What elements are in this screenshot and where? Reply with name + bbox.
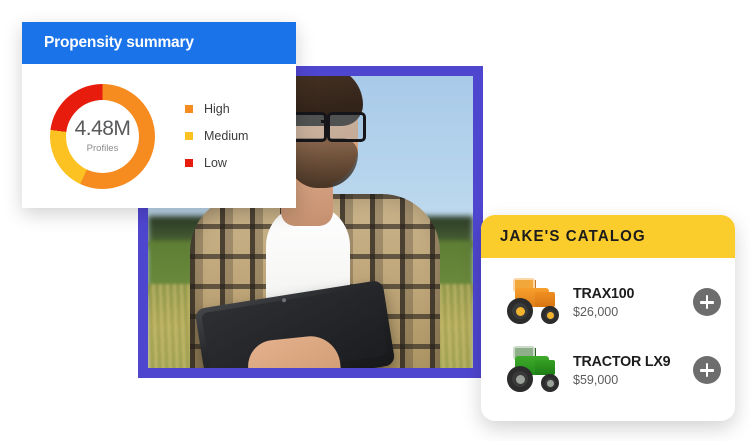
donut-center: 4.48M Profiles [66, 100, 139, 173]
add-item-button[interactable] [693, 356, 721, 384]
legend-label-low: Low [204, 156, 227, 170]
add-item-button[interactable] [693, 288, 721, 316]
green-tractor-icon [493, 344, 565, 396]
eyeglasses-icon [288, 112, 366, 136]
propensity-card-body: 4.48M Profiles High Medium Low [22, 64, 296, 208]
page-title: Propensity summary [44, 34, 194, 52]
catalog-item-list: TRAX100 $26,000 TRACTOR LX9 $59,000 [481, 258, 735, 404]
item-name: TRAX100 [573, 285, 687, 302]
legend-item-high: High [185, 102, 248, 116]
eyeglasses-right-lens [327, 112, 366, 142]
farmer-beard [288, 138, 358, 188]
legend-swatch-high [185, 105, 193, 113]
item-info: TRAX100 $26,000 [573, 285, 693, 319]
item-info: TRACTOR LX9 $59,000 [573, 353, 693, 387]
legend-label-medium: Medium [204, 129, 248, 143]
orange-tractor-icon [493, 276, 565, 328]
catalog-card-header: JAKE'S CATALOG [481, 215, 735, 258]
propensity-summary-card: Propensity summary 4.48M Profiles High M… [22, 22, 296, 208]
item-name: TRACTOR LX9 [573, 353, 687, 370]
list-item[interactable]: TRAX100 $26,000 [481, 268, 735, 336]
item-price: $26,000 [573, 305, 693, 319]
donut-label: Profiles [87, 143, 119, 154]
propensity-legend: High Medium Low [185, 102, 248, 170]
legend-item-medium: Medium [185, 129, 248, 143]
propensity-donut-chart: 4.48M Profiles [50, 84, 155, 189]
list-item[interactable]: TRACTOR LX9 $59,000 [481, 336, 735, 404]
legend-swatch-low [185, 159, 193, 167]
catalog-title: JAKE'S CATALOG [500, 228, 646, 246]
legend-label-high: High [204, 102, 230, 116]
catalog-card: JAKE'S CATALOG TRAX100 $26,000 [481, 215, 735, 421]
item-price: $59,000 [573, 373, 693, 387]
legend-item-low: Low [185, 156, 248, 170]
propensity-card-header: Propensity summary [22, 22, 296, 64]
donut-value: 4.48M [75, 118, 131, 139]
legend-swatch-medium [185, 132, 193, 140]
